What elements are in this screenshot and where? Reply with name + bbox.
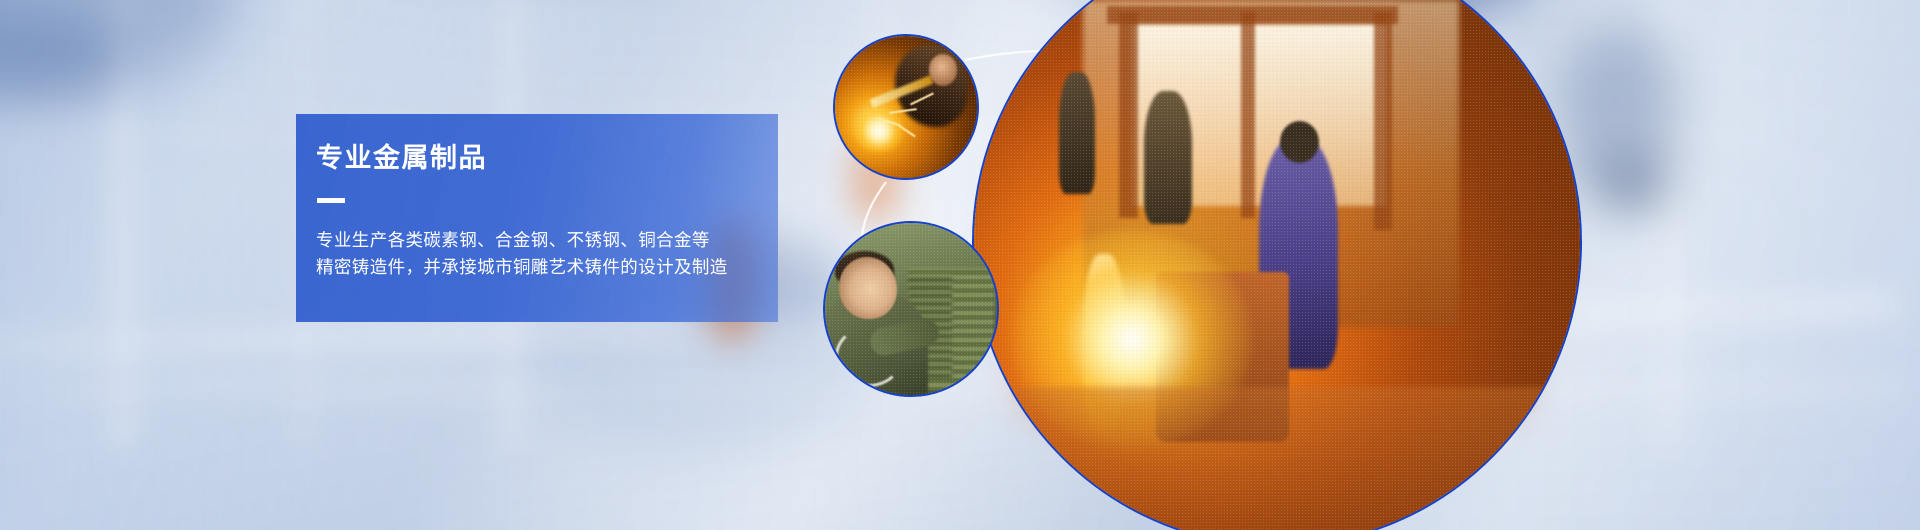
photo-collage [0,0,1920,530]
foundry-pouring-photo [972,0,1582,530]
hero-description-line-2: 精密铸造件，并承接城市铜雕艺术铸件的设计及制造 [316,254,778,281]
hero-banner: 专业金属制品 专业生产各类碳素钢、合金钢、不锈钢、铜合金等 精密铸造件，并承接城… [0,0,1920,530]
hero-text-panel: 专业金属制品 专业生产各类碳素钢、合金钢、不锈钢、铜合金等 精密铸造件，并承接城… [296,114,778,322]
hero-description-line-1: 专业生产各类碳素钢、合金钢、不锈钢、铜合金等 [316,227,778,254]
page-title: 专业金属制品 [316,144,778,174]
woman-worker-photo [823,221,999,397]
welding-sparks-photo [833,34,979,180]
title-divider [317,198,345,203]
hero-description: 专业生产各类碳素钢、合金钢、不锈钢、铜合金等 精密铸造件，并承接城市铜雕艺术铸件… [316,227,778,281]
